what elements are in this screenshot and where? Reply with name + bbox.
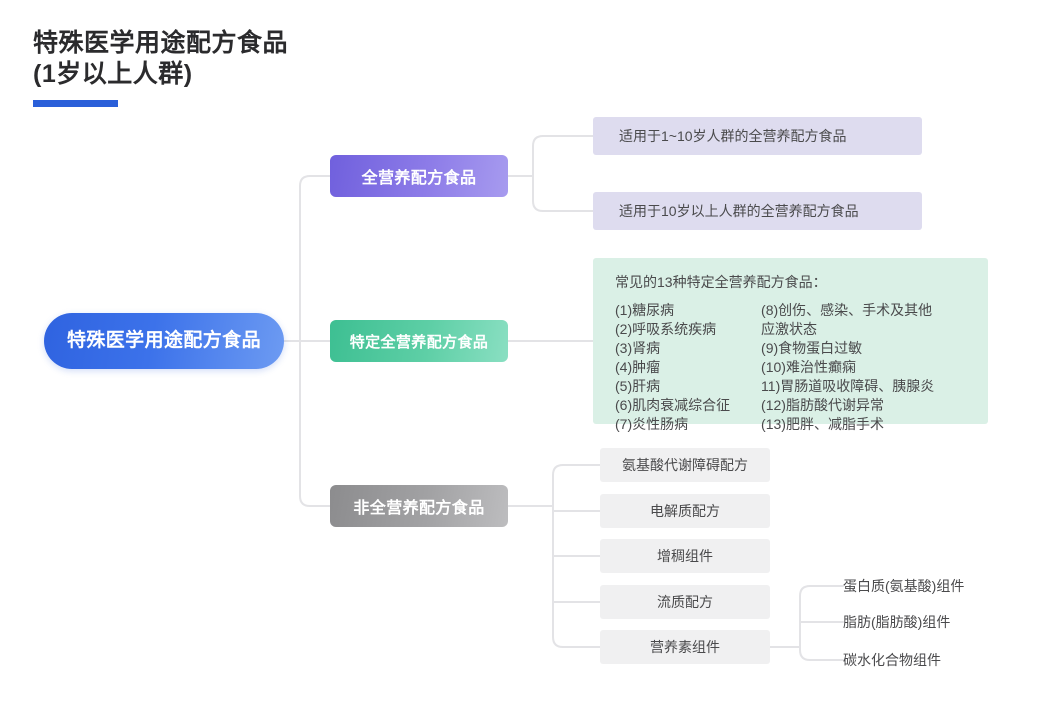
connector-leaf-5-to-component-3 [800, 647, 843, 660]
page-title: 特殊医学用途配方食品 (1岁以上人群) [33, 28, 453, 107]
page-title-line-2: (1岁以上人群) [33, 59, 453, 90]
connector-root-to-branch-1 [300, 176, 330, 341]
connector-branch-3-to-leaf-1 [553, 465, 600, 506]
connector-root-to-branch-3 [300, 341, 330, 506]
detail-column-left: (1)糖尿病 (2)呼吸系统疾病 (3)肾病 (4)肿瘤 (5)肝病 (6)肌肉… [615, 301, 761, 434]
leaf-full-nutrition-1to10[interactable]: 适用于1~10岁人群的全营养配方食品 [593, 117, 922, 155]
title-accent-bar [33, 100, 118, 107]
detail-item: (4)肿瘤 [615, 358, 761, 377]
leaf-fat-component[interactable]: 脂肪(脂肪酸)组件 [843, 609, 1003, 635]
page-title-line-1: 特殊医学用途配方食品 [33, 28, 453, 59]
leaf-amino-acid-metabolism[interactable]: 氨基酸代谢障碍配方 [600, 448, 770, 482]
connector-branch-3-to-leaf-5 [553, 506, 600, 647]
detail-item: (13)肥胖、减脂手术 [761, 415, 988, 434]
root-node[interactable]: 特殊医学用途配方食品 [44, 313, 284, 369]
branch-node-non-full-nutrition[interactable]: 非全营养配方食品 [330, 485, 508, 527]
connector-branch-1-to-leaf-1 [533, 136, 593, 176]
connector-branch-1-to-leaf-2 [533, 176, 593, 211]
connector-branch-3-to-leaf-3 [553, 506, 600, 556]
detail-item: (8)创伤、感染、手术及其他 [761, 301, 988, 320]
leaf-full-nutrition-over10[interactable]: 适用于10岁以上人群的全营养配方食品 [593, 192, 922, 230]
detail-panel-specific-full-nutrition: 常见的13种特定全营养配方食品： (1)糖尿病 (2)呼吸系统疾病 (3)肾病 … [593, 258, 988, 424]
detail-item: (6)肌肉衰减综合征 [615, 396, 761, 415]
connector-leaf-5-to-component-1 [800, 586, 843, 647]
branch-node-full-nutrition[interactable]: 全营养配方食品 [330, 155, 508, 197]
detail-item: (12)脂肪酸代谢异常 [761, 396, 988, 415]
detail-item: 应激状态 [761, 320, 988, 339]
branch-node-specific-full-nutrition[interactable]: 特定全营养配方食品 [330, 320, 508, 362]
leaf-nutrient-components[interactable]: 营养素组件 [600, 630, 770, 664]
leaf-electrolyte[interactable]: 电解质配方 [600, 494, 770, 528]
detail-item: (2)呼吸系统疾病 [615, 320, 761, 339]
detail-item: (1)糖尿病 [615, 301, 761, 320]
detail-panel-columns: (1)糖尿病 (2)呼吸系统疾病 (3)肾病 (4)肿瘤 (5)肝病 (6)肌肉… [615, 301, 988, 434]
connector-leaf-5-to-component-2 [800, 622, 843, 647]
detail-item: (10)难治性癫痫 [761, 358, 988, 377]
leaf-carbohydrate-component[interactable]: 碳水化合物组件 [843, 647, 1003, 673]
connector-branch-3-to-leaf-4 [553, 506, 600, 602]
leaf-liquid-formula[interactable]: 流质配方 [600, 585, 770, 619]
leaf-thickener[interactable]: 增稠组件 [600, 539, 770, 573]
detail-item: (3)肾病 [615, 339, 761, 358]
leaf-protein-component[interactable]: 蛋白质(氨基酸)组件 [843, 573, 1003, 599]
detail-item: 11)胃肠道吸收障碍、胰腺炎 [761, 377, 988, 396]
detail-column-right: (8)创伤、感染、手术及其他 应激状态 (9)食物蛋白过敏 (10)难治性癫痫 … [761, 301, 988, 434]
detail-panel-heading: 常见的13种特定全营养配方食品： [615, 272, 988, 292]
detail-item: (7)炎性肠病 [615, 415, 761, 434]
detail-item: (9)食物蛋白过敏 [761, 339, 988, 358]
connector-branch-3-to-leaf-2 [553, 506, 600, 511]
detail-item: (5)肝病 [615, 377, 761, 396]
